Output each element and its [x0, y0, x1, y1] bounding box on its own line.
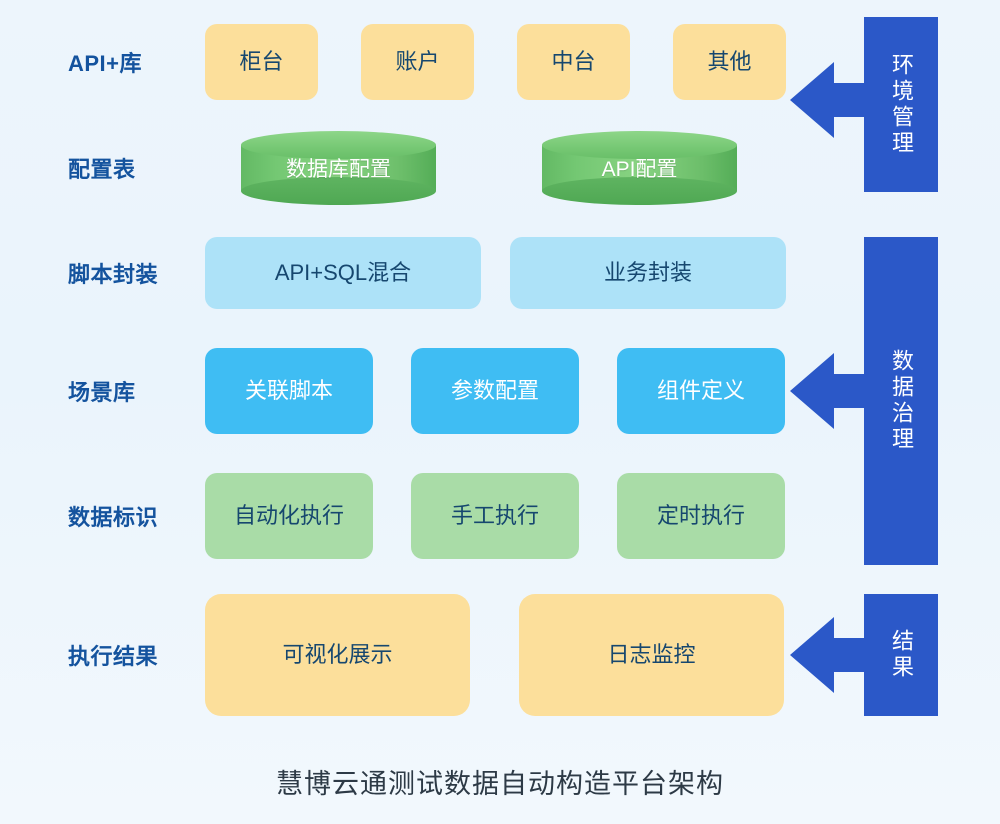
side-bar-environment-management[interactable]: 环境管理 [864, 17, 938, 192]
node-zhongtai[interactable]: 中台 [517, 24, 630, 100]
node-business-encapsulation[interactable]: 业务封装 [510, 237, 786, 309]
node-qita[interactable]: 其他 [673, 24, 786, 100]
row-label-changjingku: 场景库 [68, 375, 136, 407]
arrow-left-result [790, 617, 868, 693]
node-zhanghu[interactable]: 账户 [361, 24, 474, 100]
arrow-shaft [828, 374, 868, 408]
row-label-shujubiaoshi: 数据标识 [68, 500, 158, 532]
cylinder-label: API配置 [542, 153, 737, 183]
row-label-zhixingjieguo: 执行结果 [68, 639, 158, 671]
node-api-sql-mixed[interactable]: API+SQL混合 [205, 237, 481, 309]
node-component-definition[interactable]: 组件定义 [617, 348, 785, 434]
cylinder-label: 数据库配置 [241, 153, 436, 183]
cylinder-api-config[interactable]: API配置 [542, 131, 737, 205]
arrow-left-data-governance [790, 353, 868, 429]
side-bar-data-governance[interactable]: 数据治理 [864, 237, 938, 565]
side-bar-result[interactable]: 结果 [864, 594, 938, 716]
node-manual-execution[interactable]: 手工执行 [411, 473, 579, 559]
architecture-diagram: API+库 配置表 脚本封装 场景库 数据标识 执行结果 柜台 账户 中台 其他… [0, 0, 1000, 824]
arrow-shaft [828, 638, 868, 672]
arrow-head [790, 617, 834, 693]
row-label-peizhibiao: 配置表 [68, 152, 136, 184]
node-automated-execution[interactable]: 自动化执行 [205, 473, 373, 559]
side-bar-label: 环境管理 [885, 53, 917, 157]
node-guitai[interactable]: 柜台 [205, 24, 318, 100]
arrow-shaft [828, 83, 868, 117]
side-bar-label: 结果 [885, 629, 917, 681]
node-visualization-display[interactable]: 可视化展示 [205, 594, 470, 716]
node-related-script[interactable]: 关联脚本 [205, 348, 373, 434]
node-scheduled-execution[interactable]: 定时执行 [617, 473, 785, 559]
arrow-left-environment-management [790, 62, 868, 138]
side-bar-label: 数据治理 [885, 349, 917, 453]
row-label-api-ku: API+库 [68, 46, 142, 78]
row-label-jiaobenfengzhuang: 脚本封装 [68, 257, 158, 289]
node-log-monitoring[interactable]: 日志监控 [519, 594, 784, 716]
node-parameter-config[interactable]: 参数配置 [411, 348, 579, 434]
arrow-head [790, 353, 834, 429]
arrow-head [790, 62, 834, 138]
cylinder-database-config[interactable]: 数据库配置 [241, 131, 436, 205]
diagram-caption: 慧博云通测试数据自动构造平台架构 [0, 762, 1000, 801]
